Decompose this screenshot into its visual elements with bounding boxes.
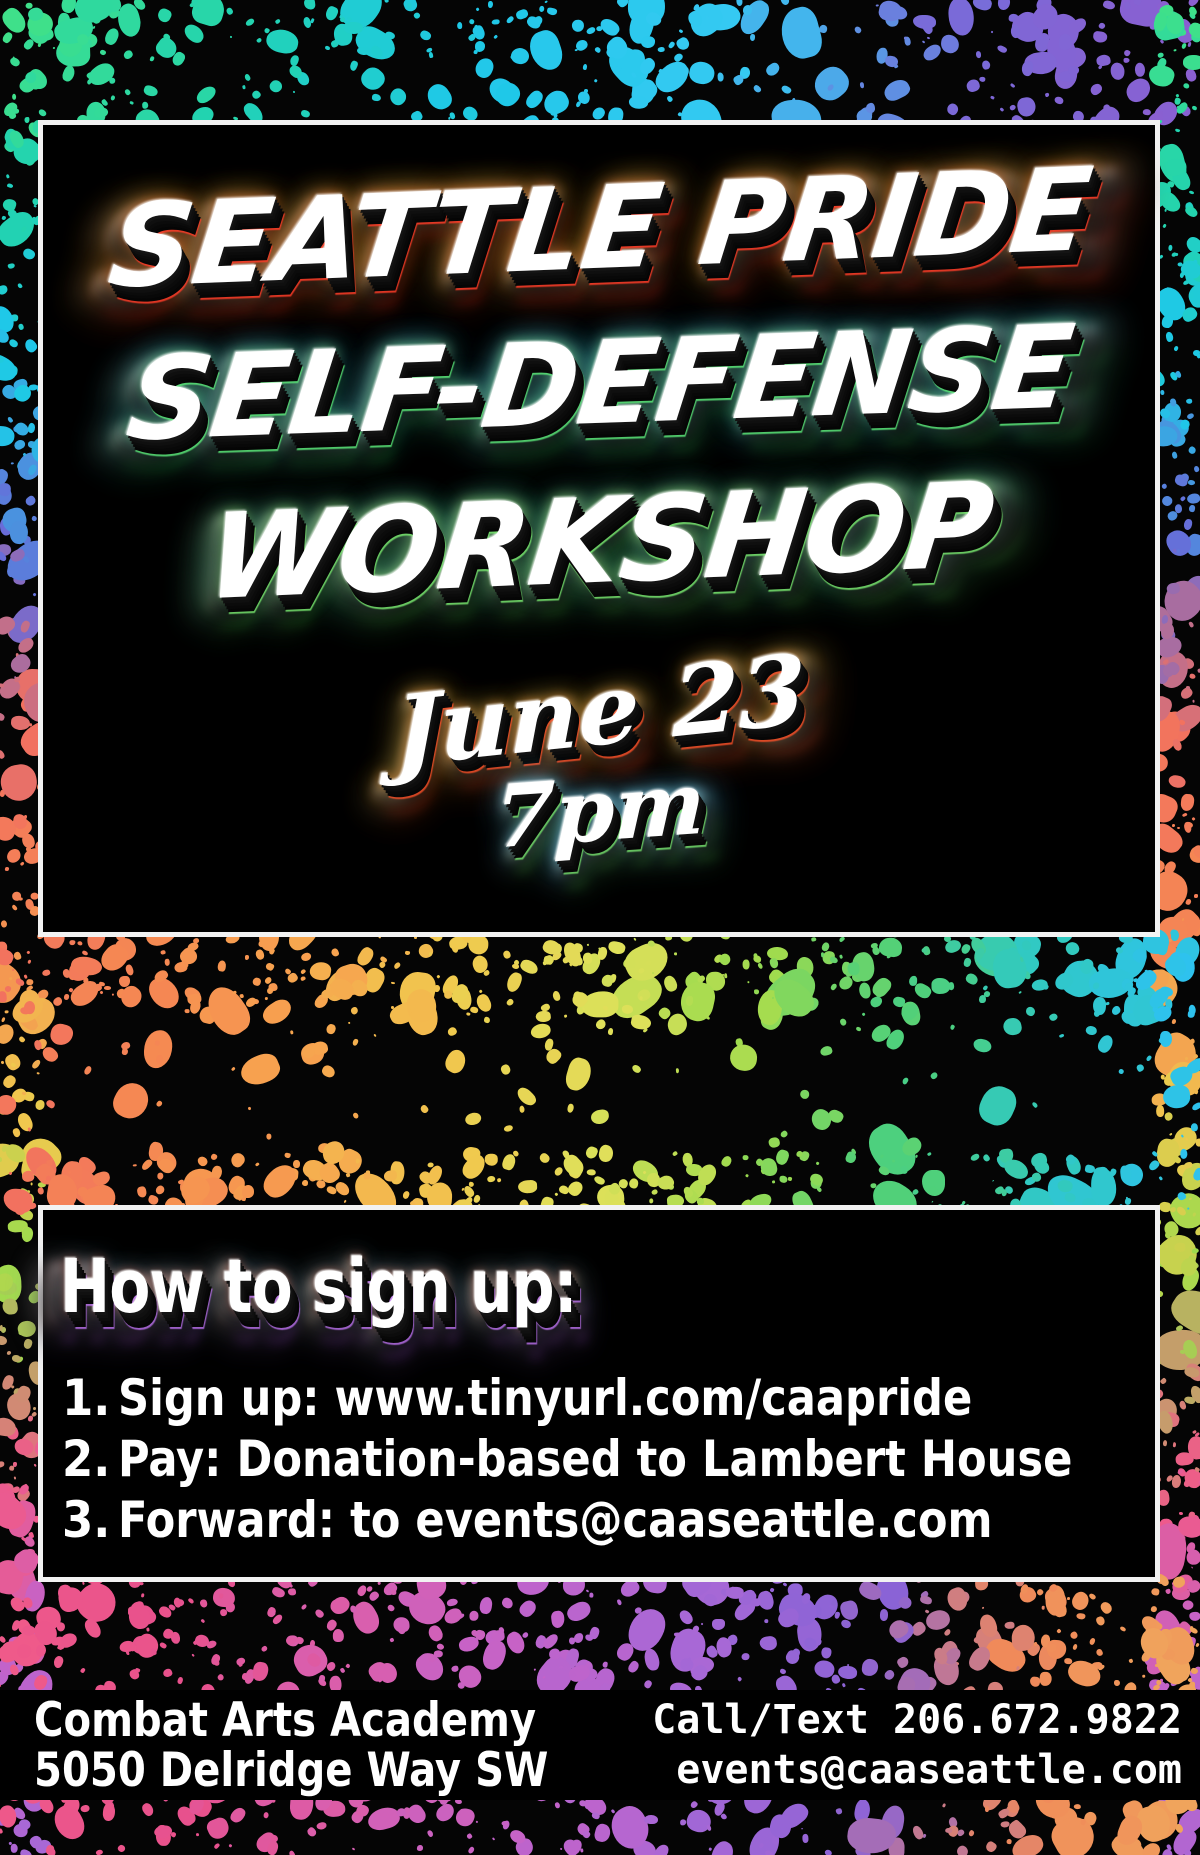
signup-heading: How to sign up:How to sign up:How to sig… [60,1250,1140,1324]
signup-steps-list: 1. Sign up: www.tinyurl.com/caapride 2. … [62,1368,1122,1551]
hero-time-wrap: 7pm7pm7pm [0,768,1200,854]
step-text[interactable]: Sign up: www.tinyurl.com/caapride [118,1368,972,1429]
paint-splatter-top [0,0,1200,132]
list-item: 1. Sign up: www.tinyurl.com/caapride [62,1368,1122,1429]
venue-address: 5050 Delridge Way SW [34,1746,548,1796]
hero-title-line-3-wrap: WORKSHOPWORKSHOPWORKSHOP [0,485,1200,597]
list-item: 3. Forward: to events@caaseattle.com [62,1490,1122,1551]
poster-canvas: SEATTLE PRIDESEATTLE PRIDESEATTLE PRIDE … [0,0,1200,1855]
hero-title-line-1: SEATTLE PRIDESEATTLE PRIDESEATTLE PRIDE [0,152,1200,307]
step-number: 2. [62,1429,118,1490]
hero-title-line-1-wrap: SEATTLE PRIDESEATTLE PRIDESEATTLE PRIDE [0,175,1200,284]
hero-title-line-2-wrap: SELF-DEFENSESELF-DEFENSESELF-DEFENSE [0,330,1200,439]
footer-venue-block: Combat Arts Academy 5050 Delridge Way SW [34,1696,548,1796]
contact-email[interactable]: events@caaseattle.com [652,1746,1182,1796]
list-item: 2. Pay: Donation-based to Lambert House [62,1429,1122,1490]
hero-title-line-2: SELF-DEFENSESELF-DEFENSESELF-DEFENSE [0,309,1200,460]
venue-name: Combat Arts Academy [34,1696,548,1746]
footer-contact-block: Call/Text 206.672.9822 events@caaseattle… [652,1696,1182,1795]
contact-phone[interactable]: Call/Text 206.672.9822 [652,1696,1182,1746]
step-text[interactable]: Forward: to events@caaseattle.com [118,1490,993,1551]
neon-rainbow-glow: How to sign up: [47,1258,1165,1335]
step-number: 1. [62,1368,118,1429]
footer: Combat Arts Academy 5050 Delridge Way SW… [0,1690,1200,1800]
step-number: 3. [62,1490,118,1551]
step-text: Pay: Donation-based to Lambert House [118,1429,1072,1490]
paint-splatter-middle [0,933,1200,1213]
